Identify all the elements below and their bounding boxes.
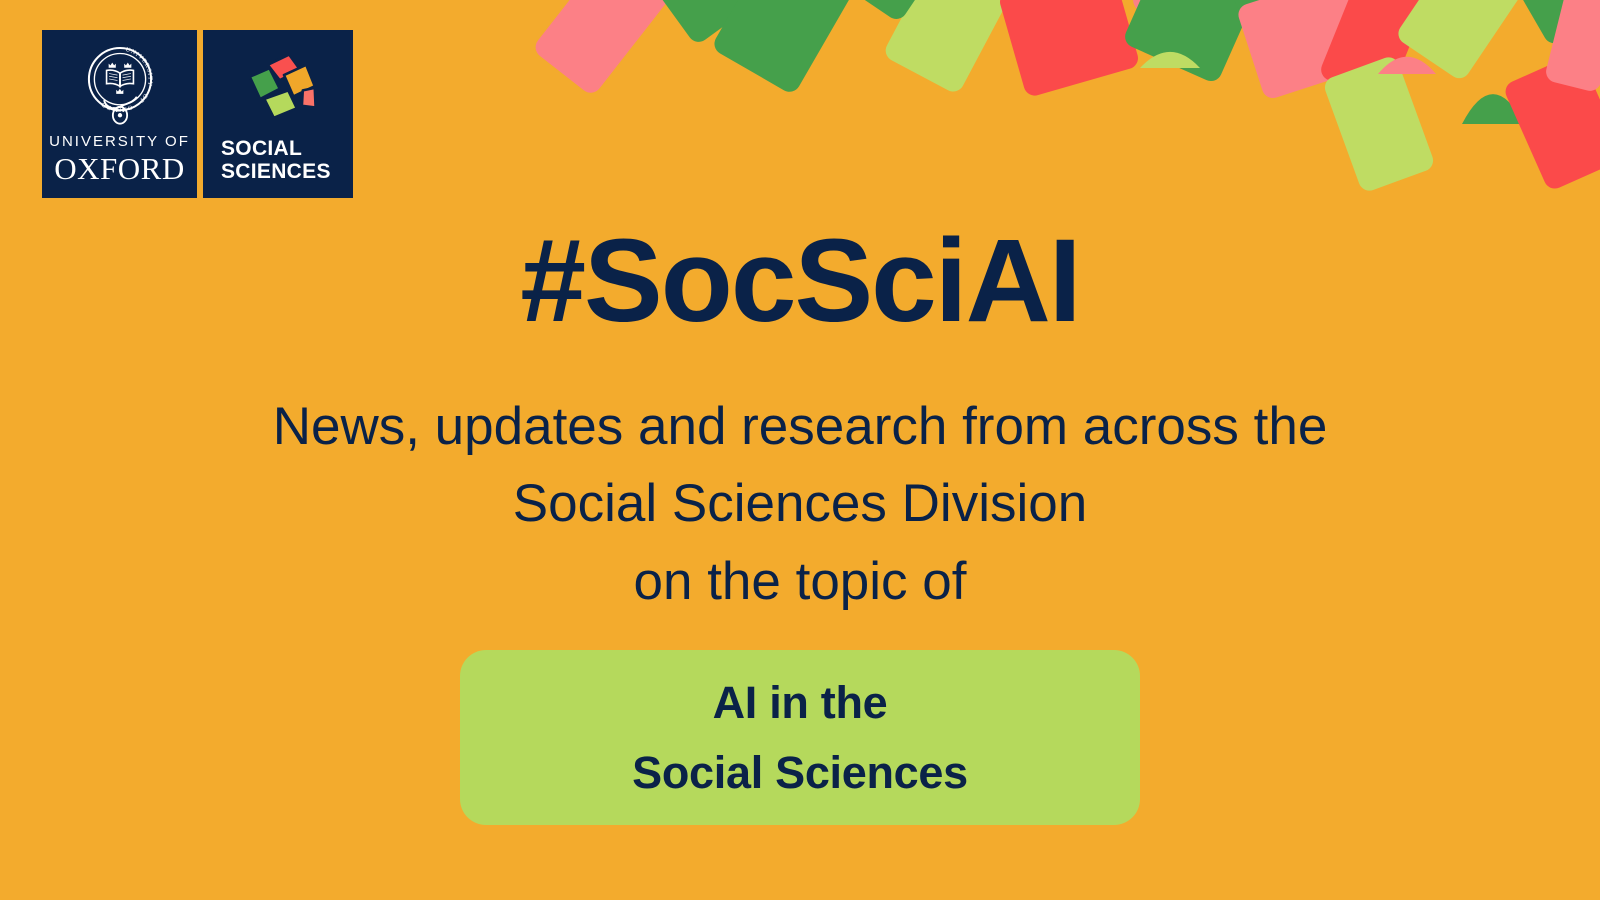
social-sciences-wordmark-line2: SCIENCES xyxy=(221,160,331,183)
confetti-shape xyxy=(1133,0,1163,14)
university-of-oxford-logo: UNIVERSITY · OF · OXFORD · xyxy=(42,30,197,198)
subtitle: News, updates and research from across t… xyxy=(0,388,1600,620)
topic-callout-box: AI in the Social Sciences xyxy=(460,650,1140,825)
confetti-shape xyxy=(621,0,769,46)
confetti-shape xyxy=(997,0,1140,98)
confetti-shape xyxy=(1318,0,1432,103)
confetti-shape xyxy=(1322,54,1436,193)
subtitle-line-3: on the topic of xyxy=(0,543,1600,620)
confetti-shape xyxy=(1394,0,1544,82)
oxford-wordmark: UNIVERSITY OF OXFORD xyxy=(42,134,197,198)
oxford-crest-icon: UNIVERSITY · OF · OXFORD · xyxy=(78,30,162,134)
callout-line-2: Social Sciences xyxy=(632,738,968,808)
svg-text:UNIVERSITY · OF · OXFORD ·: UNIVERSITY · OF · OXFORD · xyxy=(94,46,153,113)
confetti-shape xyxy=(1200,0,1327,50)
confetti-shape xyxy=(710,0,869,96)
oxford-wordmark-line2: OXFORD xyxy=(42,153,197,184)
socsciai-banner: UNIVERSITY · OF · OXFORD · xyxy=(0,0,1600,900)
social-sciences-hexagon-icon xyxy=(235,30,321,137)
social-sciences-logo: SOCIAL SCIENCES xyxy=(203,30,353,198)
confetti-shape xyxy=(1122,0,1279,85)
confetti-shape xyxy=(973,0,1116,36)
confetti-shape xyxy=(882,0,1028,95)
social-sciences-wordmark: SOCIAL SCIENCES xyxy=(203,137,353,198)
social-sciences-wordmark-line1: SOCIAL xyxy=(221,137,302,160)
confetti-shape xyxy=(1462,94,1524,124)
confetti-shape xyxy=(1236,0,1373,101)
subtitle-line-2: Social Sciences Division xyxy=(0,465,1600,542)
confetti-shape xyxy=(1140,52,1200,68)
subtitle-line-1: News, updates and research from across t… xyxy=(0,388,1600,465)
page-title-hashtag: #SocSciAI xyxy=(0,222,1600,340)
callout-line-1: AI in the xyxy=(713,668,888,738)
logo-lockup: UNIVERSITY · OF · OXFORD · xyxy=(42,30,353,198)
confetti-shape xyxy=(531,0,679,97)
confetti-shape xyxy=(1544,0,1600,93)
confetti-shape xyxy=(1485,0,1600,47)
confetti-shape xyxy=(1378,57,1436,74)
confetti-shape xyxy=(830,0,967,23)
confetti-shape xyxy=(1502,52,1600,192)
